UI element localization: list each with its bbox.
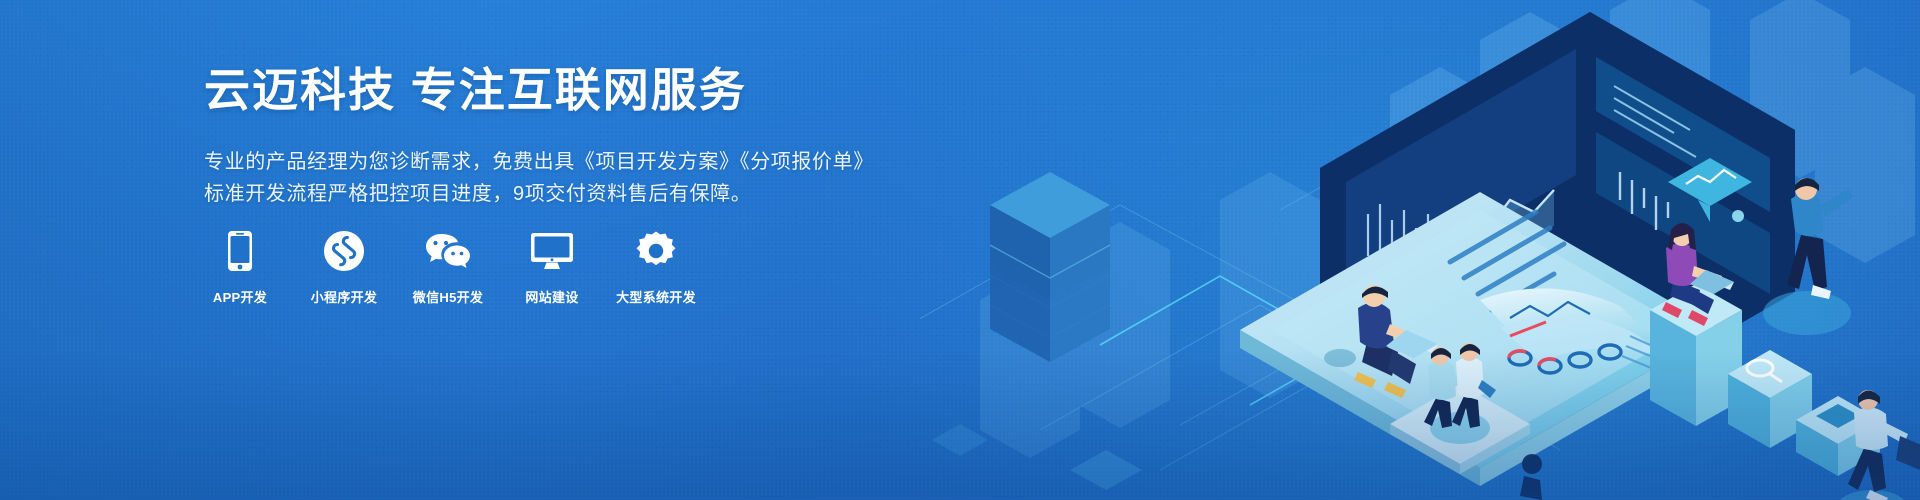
page-title: 云迈科技 专注互联网服务 xyxy=(204,62,924,120)
hero-subtitle: 专业的产品经理为您诊断需求，免费出具《项目开发方案》《分项报价单》 标准开发流程… xyxy=(204,146,924,210)
mobile-phone-icon xyxy=(227,228,253,274)
monitor-icon xyxy=(530,228,574,274)
isometric-tech-team-illustration xyxy=(920,0,1920,500)
service-icon-list: APP开发 小程序开发 xyxy=(204,228,692,306)
service-item-mini-program[interactable]: 小程序开发 xyxy=(308,228,380,306)
gear-icon xyxy=(635,228,677,274)
service-label: 小程序开发 xyxy=(311,287,378,306)
service-item-large-system[interactable]: 大型系统开发 xyxy=(620,228,692,306)
service-item-website[interactable]: 网站建设 xyxy=(516,228,588,306)
subtitle-line-1: 专业的产品经理为您诊断需求，免费出具《项目开发方案》《分项报价单》 xyxy=(204,146,924,178)
hero-copy: 云迈科技 专注互联网服务 专业的产品经理为您诊断需求，免费出具《项目开发方案》《… xyxy=(204,62,924,210)
wechat-icon xyxy=(425,228,471,274)
service-label: APP开发 xyxy=(213,287,267,306)
hero-banner: 云迈科技 专注互联网服务 专业的产品经理为您诊断需求，免费出具《项目开发方案》《… xyxy=(0,0,1920,500)
service-item-app[interactable]: APP开发 xyxy=(204,228,276,306)
service-label: 大型系统开发 xyxy=(616,287,696,306)
service-item-wechat-h5[interactable]: 微信H5开发 xyxy=(412,228,484,306)
subtitle-line-2: 标准开发流程严格把控项目进度，9项交付资料售后有保障。 xyxy=(204,178,924,210)
service-label: 微信H5开发 xyxy=(413,287,483,306)
service-label: 网站建设 xyxy=(525,287,578,306)
mini-program-icon xyxy=(323,228,365,274)
